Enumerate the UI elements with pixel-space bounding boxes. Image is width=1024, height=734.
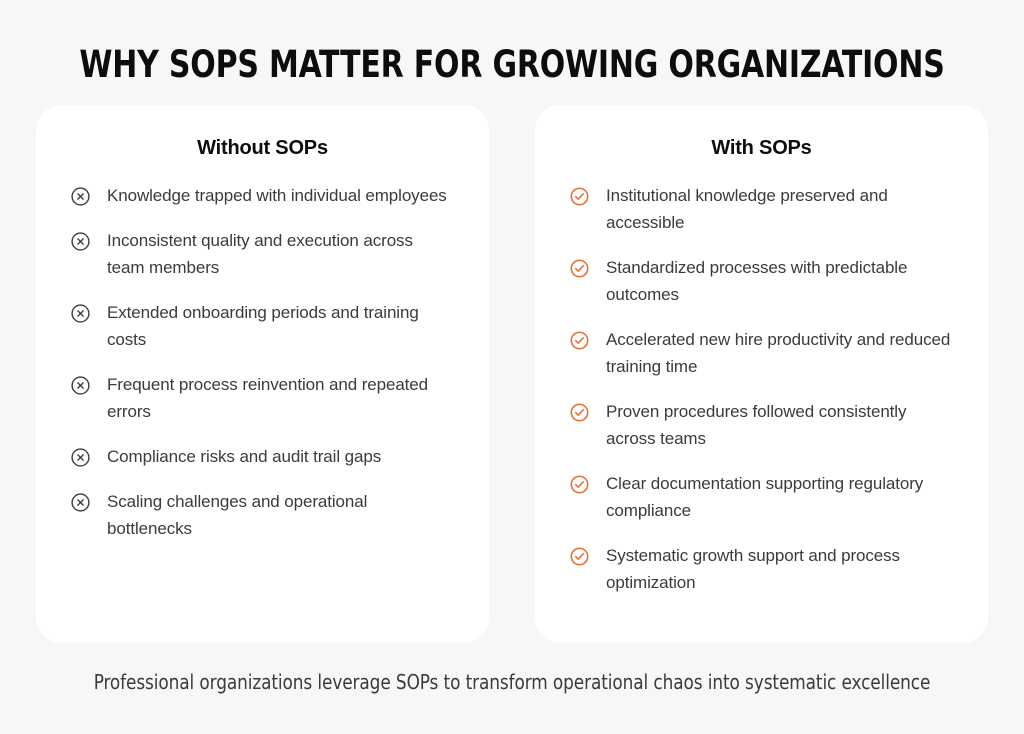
circle-x-icon: [70, 231, 91, 252]
circle-check-icon: [569, 546, 590, 567]
without-sops-list: Knowledge trapped with individual employ…: [64, 182, 461, 542]
card-without-sops-heading: Without SOPs: [64, 137, 461, 160]
list-item-text: Clear documentation supporting regulator…: [606, 470, 951, 524]
list-item: Scaling challenges and operational bottl…: [64, 488, 461, 542]
list-item-text: Inconsistent quality and execution acros…: [107, 227, 452, 281]
circle-x-icon: [70, 375, 91, 396]
card-with-sops: With SOPs Institutional knowledge preser…: [535, 105, 988, 643]
comparison-columns: Without SOPs Knowledge trapped with indi…: [36, 105, 988, 643]
circle-x-icon: [70, 447, 91, 468]
list-item: Extended onboarding periods and training…: [64, 299, 461, 353]
list-item: Clear documentation supporting regulator…: [563, 470, 960, 524]
list-item: Compliance risks and audit trail gaps: [64, 443, 461, 470]
footer-note: Professional organizations leverage SOPs…: [31, 669, 994, 695]
circle-check-icon: [569, 402, 590, 423]
list-item: Institutional knowledge preserved and ac…: [563, 182, 960, 236]
circle-check-icon: [569, 186, 590, 207]
circle-x-icon: [70, 303, 91, 324]
with-sops-list: Institutional knowledge preserved and ac…: [563, 182, 960, 596]
list-item: Standardized processes with predictable …: [563, 254, 960, 308]
list-item-text: Institutional knowledge preserved and ac…: [606, 182, 951, 236]
list-item-text: Extended onboarding periods and training…: [107, 299, 452, 353]
list-item: Knowledge trapped with individual employ…: [64, 182, 461, 209]
card-with-sops-heading: With SOPs: [563, 137, 960, 160]
list-item: Inconsistent quality and execution acros…: [64, 227, 461, 281]
circle-x-icon: [70, 186, 91, 207]
list-item: Accelerated new hire productivity and re…: [563, 326, 960, 380]
circle-check-icon: [569, 474, 590, 495]
list-item-text: Accelerated new hire productivity and re…: [606, 326, 951, 380]
list-item-text: Frequent process reinvention and repeate…: [107, 371, 452, 425]
circle-check-icon: [569, 258, 590, 279]
circle-check-icon: [569, 330, 590, 351]
page-title: WHY SOPS MATTER FOR GROWING ORGANIZATION…: [51, 44, 973, 86]
list-item-text: Compliance risks and audit trail gaps: [107, 443, 381, 470]
list-item-text: Scaling challenges and operational bottl…: [107, 488, 452, 542]
list-item-text: Proven procedures followed consistently …: [606, 398, 951, 452]
card-without-sops: Without SOPs Knowledge trapped with indi…: [36, 105, 489, 643]
circle-x-icon: [70, 492, 91, 513]
list-item-text: Systematic growth support and process op…: [606, 542, 951, 596]
list-item-text: Knowledge trapped with individual employ…: [107, 182, 447, 209]
infographic-root: WHY SOPS MATTER FOR GROWING ORGANIZATION…: [0, 0, 1024, 734]
list-item: Systematic growth support and process op…: [563, 542, 960, 596]
list-item-text: Standardized processes with predictable …: [606, 254, 951, 308]
list-item: Proven procedures followed consistently …: [563, 398, 960, 452]
list-item: Frequent process reinvention and repeate…: [64, 371, 461, 425]
